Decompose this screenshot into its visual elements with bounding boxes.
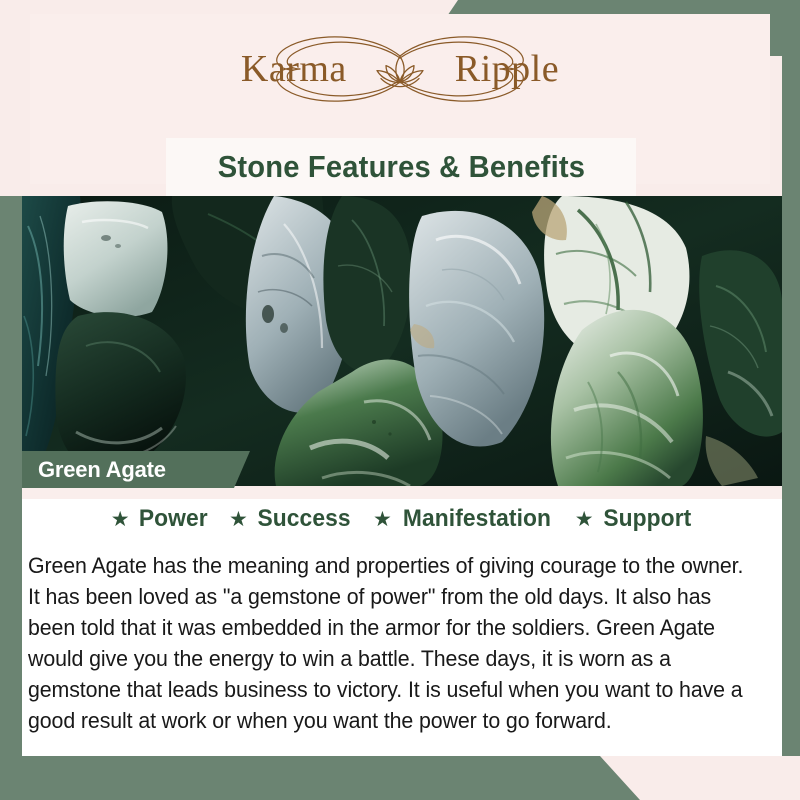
page-title: Stone Features & Benefits [217,149,584,185]
stone-photo [22,196,782,486]
title-banner: Stone Features & Benefits [166,138,636,196]
feature-label: Support [603,505,691,533]
star-icon: ★ [229,509,248,530]
content-panel: ★ Power ★ Success ★ Manifestation ★ Supp… [22,488,782,756]
brand-name-first: Karma [241,50,347,88]
decor-bottom-border [0,756,640,800]
infographic-canvas: Karma Ripple Stone Features & Benefits [0,0,800,800]
feature-item-power: ★ Power [111,505,209,533]
feature-item-support: ★ Support [575,505,694,533]
feature-label: Power [138,505,207,533]
lotus-icon [373,51,427,91]
header: Karma Ripple Stone Features & Benefits [0,0,800,196]
star-icon: ★ [373,509,392,530]
feature-label: Manifestation [403,505,551,533]
decor-left-border [0,196,22,758]
content-top-accent [22,488,782,499]
feature-label: Success [257,505,350,533]
feature-item-manifestation: ★ Manifestation [373,505,555,533]
stone-name: Green Agate [22,457,166,483]
brand-logo: Karma Ripple [0,26,800,112]
feature-item-success: ★ Success [229,505,353,533]
features-list: ★ Power ★ Success ★ Manifestation ★ Supp… [22,505,782,533]
stone-name-band: Green Agate [22,451,250,488]
star-icon: ★ [575,509,594,530]
star-icon: ★ [111,509,130,530]
brand-name-second: Ripple [455,50,559,88]
stone-description: Green Agate has the meaning and properti… [28,550,757,736]
